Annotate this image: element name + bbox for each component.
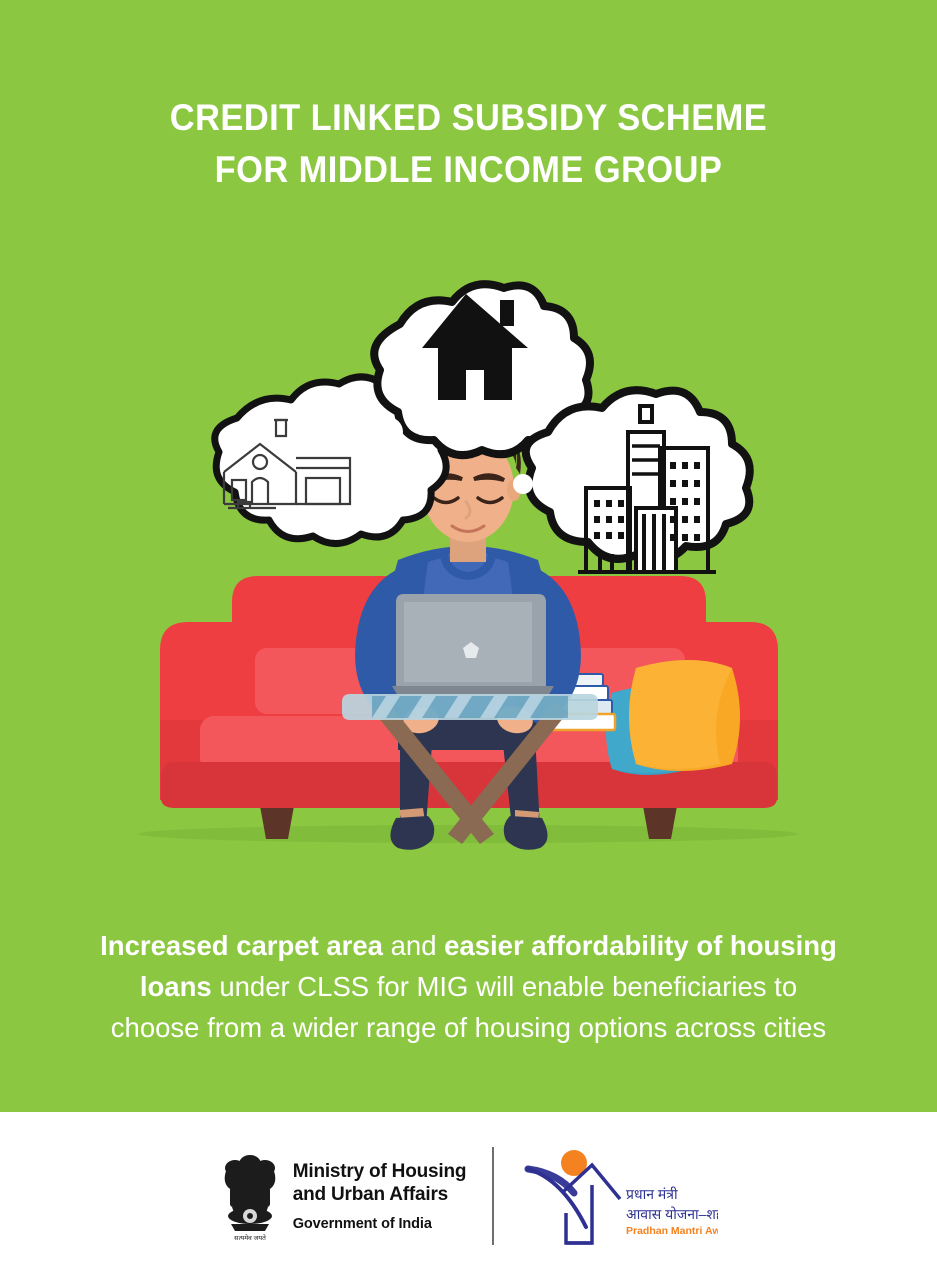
house-chimney-icon [500,300,514,326]
caption-plain-1: and [383,930,444,961]
pmay-english-line: Pradhan Mantri Awas Yojana-Urban [626,1225,718,1237]
page-title: CREDIT LINKED SUBSIDY SCHEME FOR MIDDLE … [0,92,937,196]
eyebrow-right [474,475,504,480]
thought-bubble-city [526,390,750,572]
caption-text: Increased carpet area and easier afforda… [100,925,837,1048]
illustration-scene [0,250,937,870]
caption-bold-1: Increased carpet area [100,930,383,961]
ministry-line-1: Ministry of Housing [293,1160,467,1183]
emblem-motto: सत्यमेव जयते [234,1234,266,1242]
poster-root: CREDIT LINKED SUBSIDY SCHEME FOR MIDDLE … [0,0,937,1280]
pmay-urban-logo: प्रधान मंत्री आवास योजना–शहरी Pradhan Ma… [494,1143,718,1249]
footer-bar: सत्यमेव जयते Ministry of Housing and Urb… [0,1112,937,1280]
ashoka-lion-capital-emblem: सत्यमेव जयते [219,1149,281,1243]
caption-plain-2: under CLSS for MIG will enable beneficia… [111,971,826,1043]
ministry-logo: सत्यमेव जयते Ministry of Housing and Urb… [219,1149,493,1243]
bubble-dot-1 [373,417,403,447]
bubble-dot-2 [367,475,389,497]
ministry-line-3: Government of India [293,1215,467,1233]
shoe-left [390,816,434,850]
ministry-line-2: and Urban Affairs [293,1183,467,1206]
laptop-screen [404,602,532,682]
title-line-2: FOR MIDDLE INCOME GROUP [33,144,904,196]
pmay-hindi-line-1: प्रधान मंत्री [626,1186,678,1202]
shoe-right [504,816,548,850]
pmay-hindi-line-2: आवास योजना–शहरी [626,1206,718,1222]
cushion-orange-highlight [629,660,732,769]
bubble-dot-4 [513,474,533,494]
title-line-1: CREDIT LINKED SUBSIDY SCHEME [33,92,904,144]
bubble-dot-3 [493,423,519,449]
